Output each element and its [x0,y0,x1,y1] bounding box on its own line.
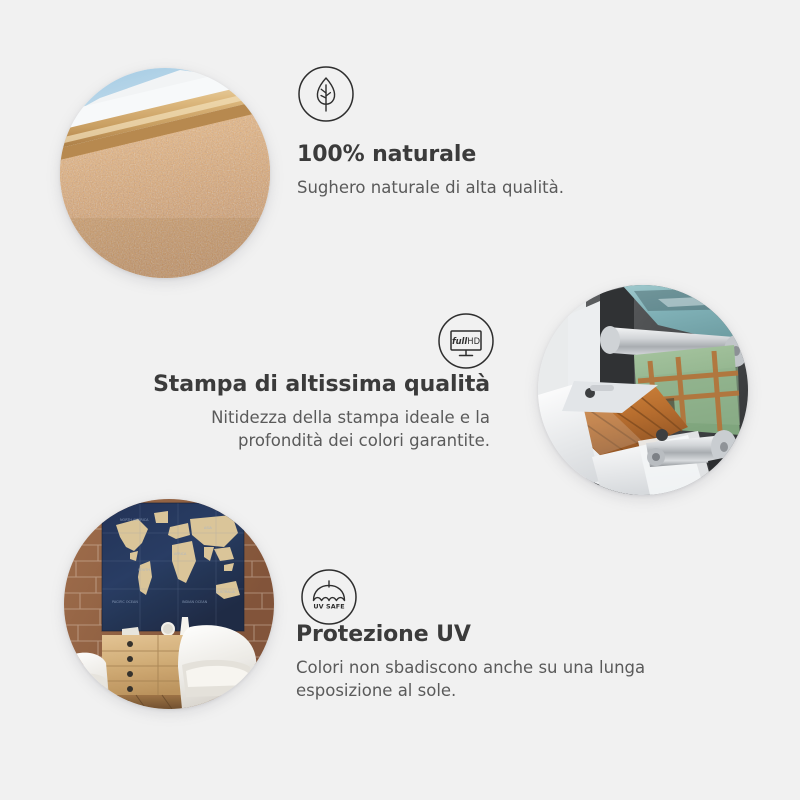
feature-uv-protection-heading: Protezione UV [296,622,696,649]
interior-world-map-photo: NORTH AMERICA SOUTH AFRICA ASIA AUSTRALI… [64,499,274,709]
uv-safe-umbrella-icon: UV SAFE [300,568,358,626]
svg-text:fullHD: fullHD [452,336,480,346]
feature-uv-protection: Protezione UV Colori non sbadiscono anch… [296,622,696,703]
feature-print-quality-body: Nitidezza della stampa ideale e laprofon… [150,406,490,453]
feature-uv-protection-body-line-2: esposizione al sole. [296,681,456,700]
feature-uv-protection-body: Colori non sbadiscono anche su una lunga… [296,656,696,703]
feature-natural: 100% naturale Sughero naturale di alta q… [297,142,717,199]
feature-print-quality-body-line-2: profondità dei colori garantite. [238,431,490,450]
cork-texture-photo [60,68,270,278]
feature-natural-body: Sughero naturale di alta qualità. [297,176,717,199]
feature-print-quality: Stampa di altissima qualità Nitidezza de… [150,372,490,453]
svg-text:UV SAFE: UV SAFE [313,603,344,611]
fullhd-monitor-icon: fullHD [437,312,495,370]
feature-panel: 100% naturale Sughero naturale di alta q… [0,0,800,800]
feature-print-quality-body-line-1: Nitidezza della stampa ideale e la [211,408,490,427]
feature-print-quality-heading: Stampa di altissima qualità [150,372,490,399]
feature-natural-heading: 100% naturale [297,142,717,169]
feature-uv-protection-body-line-1: Colori non sbadiscono anche su una lunga [296,658,645,677]
leaf-icon [297,65,355,123]
large-format-printer-photo [538,285,748,495]
